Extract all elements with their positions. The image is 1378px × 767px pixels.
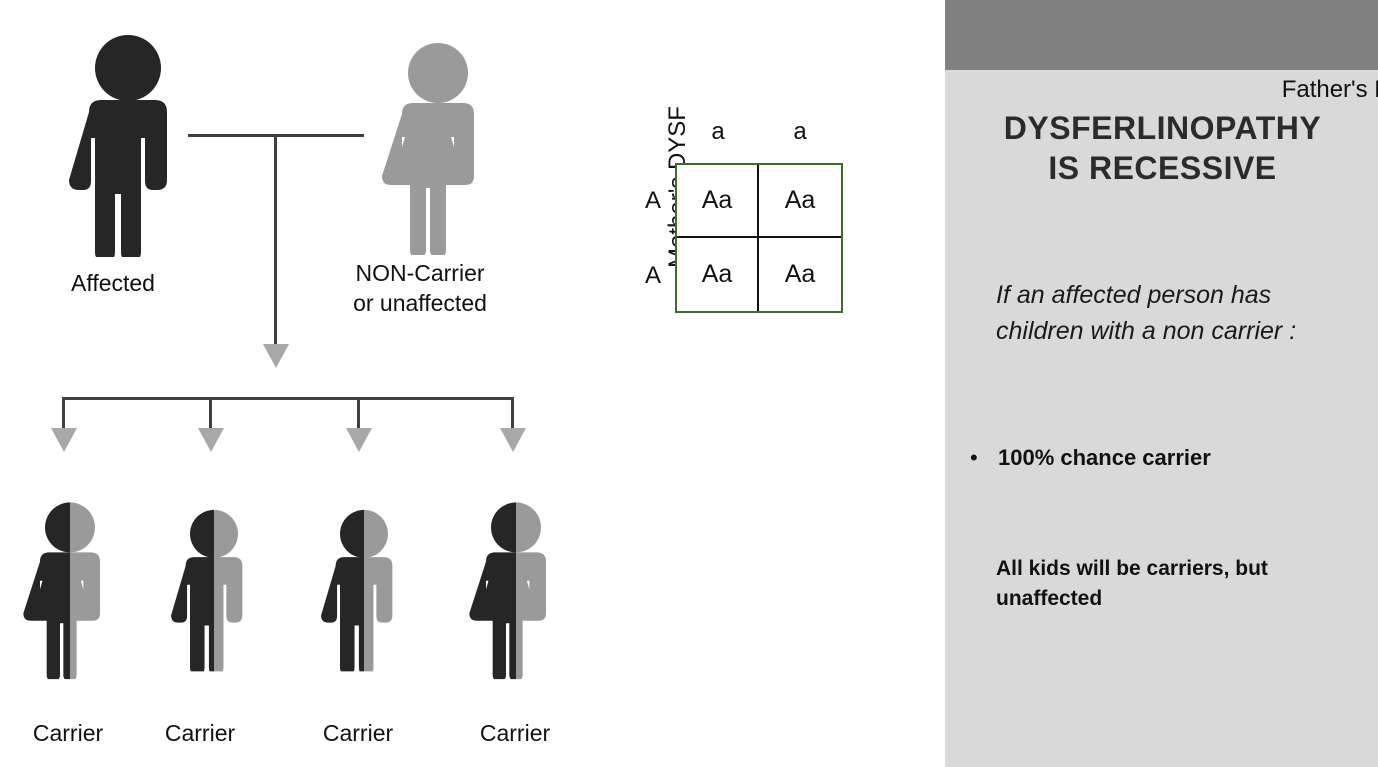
punnett-square: Father's DYSF Mother's DYSF a a A A Aa A… [600, 70, 900, 340]
figure-father-affected [62, 32, 194, 257]
parent-descent-line [274, 134, 277, 349]
label-mother-line-2: or unaffected [320, 288, 520, 318]
page-title: DYSFERLINOPATHY IS RECESSIVE [960, 108, 1365, 188]
sibship-arrow-1-icon [51, 428, 77, 452]
punnett-cell-0-1: Aa [759, 165, 841, 238]
label-child-3: Carrier [292, 718, 424, 748]
label-father: Affected [28, 268, 198, 298]
sibship-drop-2 [209, 397, 212, 431]
slide-canvas: DYSFERLINOPATHY IS RECESSIVE If an affec… [0, 0, 1378, 767]
punnett-cell-1-1: Aa [759, 238, 841, 311]
figure-child-4 [466, 487, 566, 692]
bullet-item-carrier-chance: • 100% chance carrier [970, 444, 1370, 472]
male-pictogram-split-icon [316, 487, 412, 692]
panel-subtitle: If an affected person has children with … [996, 277, 1346, 349]
label-mother-line-1: NON-Carrier [320, 258, 520, 288]
punnett-cell-0-0: Aa [677, 165, 759, 238]
punnett-row-header-1: A [640, 262, 666, 290]
male-pictogram-split-icon [166, 487, 262, 692]
figure-child-2 [166, 487, 262, 692]
punnett-col-header-0: a [698, 118, 738, 146]
page-title-line-2: IS RECESSIVE [960, 148, 1365, 188]
label-child-2: Carrier [134, 718, 266, 748]
sibship-line [62, 397, 514, 400]
sibship-arrow-2-icon [198, 428, 224, 452]
punnett-col-header-1: a [780, 118, 820, 146]
punnett-grid: Aa Aa Aa Aa [675, 163, 843, 313]
figure-mother-noncarrier [378, 40, 498, 255]
sibship-drop-1 [62, 397, 65, 431]
bullet-dot-icon: • [970, 444, 998, 472]
panel-top-bar [945, 0, 1378, 70]
female-pictogram-icon [378, 40, 498, 255]
bullet-item-label: 100% chance carrier [998, 444, 1211, 472]
label-child-4: Carrier [449, 718, 581, 748]
sibship-arrow-3-icon [346, 428, 372, 452]
sibship-drop-3 [357, 397, 360, 431]
figure-child-1 [20, 487, 120, 692]
male-pictogram-icon [62, 32, 194, 257]
female-pictogram-split-icon [466, 487, 566, 692]
label-mother: NON-Carrier or unaffected [320, 258, 520, 318]
female-pictogram-split-icon [20, 487, 120, 692]
punnett-top-title: Father's DYSF [1240, 76, 1378, 104]
punnett-cell-1-0: Aa [677, 238, 759, 311]
punnett-row-header-0: A [640, 187, 666, 215]
parent-descent-arrow-icon [263, 344, 289, 368]
page-title-line-1: DYSFERLINOPATHY [960, 108, 1365, 148]
figure-child-3 [316, 487, 412, 692]
sibship-arrow-4-icon [500, 428, 526, 452]
panel-note: All kids will be carriers, but unaffecte… [996, 554, 1356, 614]
sibship-drop-4 [511, 397, 514, 431]
label-child-1: Carrier [2, 718, 134, 748]
